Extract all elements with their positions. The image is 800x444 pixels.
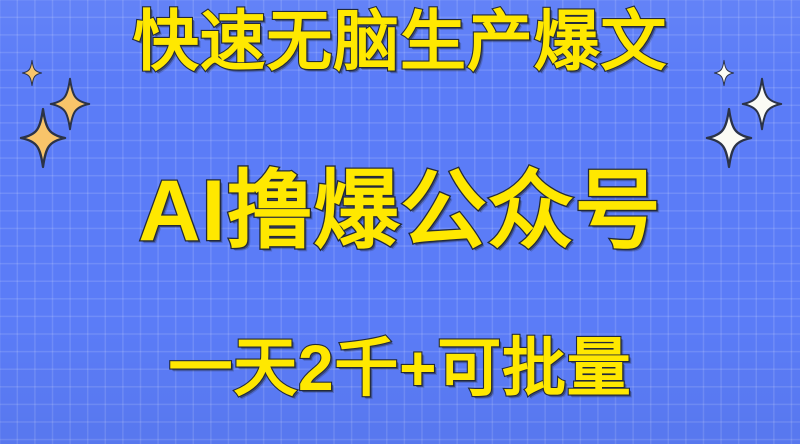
headline-line-2: AI撸爆公众号 [0,168,800,254]
headline-line-1: 快速无脑生产爆文 [0,8,800,74]
headline-line-3: 一天2千+可批量 [0,336,800,400]
headline-stack: 快速无脑生产爆文 AI撸爆公众号 一天2千+可批量 [0,0,800,444]
promo-poster: 快速无脑生产爆文 AI撸爆公众号 一天2千+可批量 [0,0,800,444]
